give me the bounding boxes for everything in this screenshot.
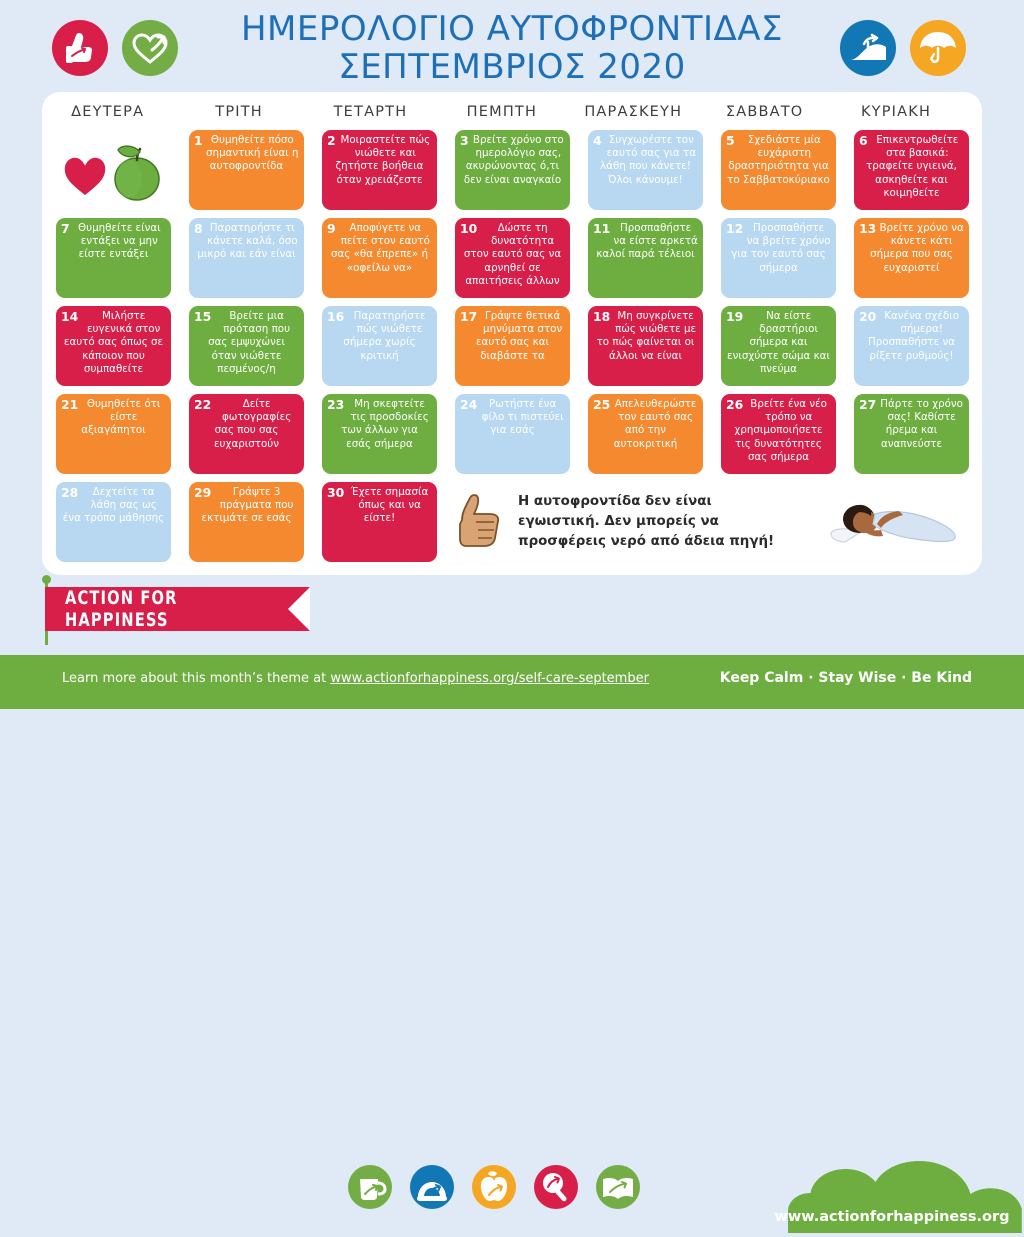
calendar-day-16[interactable]: 16Παρατηρήστε πώς νιώθετε σήμερα χωρίς κ… (322, 306, 437, 386)
day-number: 4 (593, 134, 602, 148)
day-number: 10 (460, 222, 477, 236)
magnifier-icon (534, 1165, 578, 1209)
calendar-day-4[interactable]: 4Συγχωρέστε τον εαυτό σας για τα λάθη πο… (588, 130, 703, 210)
calendar-day-23[interactable]: 23Μη σκεφτείτε τις προσδοκίες των άλλων … (322, 394, 437, 474)
day-number: 22 (194, 398, 211, 412)
calendar-day-2[interactable]: 2Μοιραστείτε πώς νιώθετε και ζητήστε βοή… (322, 130, 437, 210)
day-number: 18 (593, 310, 610, 324)
day-number: 21 (61, 398, 78, 412)
day-text: Αποφύγετε να πείτε στον εαυτό σας «θα έπ… (327, 222, 432, 275)
heart-arrow-icon (122, 20, 178, 76)
calendar-day-27[interactable]: 27Πάρτε το χρόνο σας! Καθίστε ήρεμα και … (854, 394, 969, 474)
self-care-calendar-poster: ΗΜΕΡΟΛΟΓΙΟ ΑΥΤΟΦΡΟΝΤΙΔΑΣ ΣΕΠΤΕΜΒΡΙΟΣ 202… (0, 0, 1024, 709)
day-text: Συγχωρέστε τον εαυτό σας για τα λάθη που… (593, 134, 698, 187)
day-number: 6 (859, 134, 868, 148)
weekday-header-3: ΠΕΜΠΤΗ (436, 104, 567, 132)
day-number: 24 (460, 398, 477, 412)
day-number: 11 (593, 222, 610, 236)
quote-text: Η αυτοφροντίδα δεν είναι εγωιστική. Δεν … (518, 492, 818, 552)
calendar-day-30[interactable]: 30Έχετε σημασία όπως και να είστε! (322, 482, 437, 562)
calendar-day-15[interactable]: 15Βρείτε μια πρόταση που σας εμψυχώνει ό… (189, 306, 304, 386)
calendar-day-19[interactable]: 19Να είστε δραστήριοι σήμερα και ενισχύσ… (721, 306, 836, 386)
day-number: 15 (194, 310, 211, 324)
action-for-happiness-logo[interactable]: ACTION FOR HAPPINESS (45, 587, 310, 631)
day-number: 27 (859, 398, 876, 412)
thumbs-up-illustration (440, 486, 512, 562)
day-number: 9 (327, 222, 336, 236)
calendar-day-25[interactable]: 25Απελευθερώστε τον εαυτό σας από την αυ… (588, 394, 703, 474)
quote-line-2: εγωιστική. Δεν μπορείς να (518, 514, 719, 529)
telephone-icon (410, 1165, 454, 1209)
calendar-day-12[interactable]: 12Προσπαθήστε να βρείτε χρόνο για τον εα… (721, 218, 836, 298)
calendar-day-26[interactable]: 26Βρείτε ένα νέο τρόπο να χρησιμοποιήσετ… (721, 394, 836, 474)
weekday-header-6: ΚΥΡΙΑΚΗ (830, 104, 961, 132)
calendar-day-7[interactable]: 7Θυμηθείτε είναι εντάξει να μην είστε εν… (56, 218, 171, 298)
day-number: 26 (726, 398, 743, 412)
hill-walk-icon (840, 20, 896, 76)
calendar-day-13[interactable]: 13Βρείτε χρόνο να κάνετε κάτι σήμερα που… (854, 218, 969, 298)
branding-band: ACTION FOR HAPPINESS (0, 575, 1024, 655)
day-number: 29 (194, 486, 211, 500)
day-number: 3 (460, 134, 469, 148)
day-number: 1 (194, 134, 203, 148)
learn-more-prefix: Learn more about this month’s theme at (62, 671, 330, 686)
day-number: 28 (61, 486, 78, 500)
day-number: 25 (593, 398, 610, 412)
day-text: Θυμηθείτε είναι εντάξει να μην είστε εντ… (61, 222, 166, 262)
page-title: ΗΜΕΡΟΛΟΓΙΟ ΑΥΤΟΦΡΟΝΤΙΔΑΣ ΣΕΠΤΕΜΒΡΙΟΣ 202… (200, 10, 824, 86)
tagline: Keep Calm · Stay Wise · Be Kind (720, 670, 972, 686)
apple-icon (472, 1165, 516, 1209)
weekday-header-row: ΔΕΥΤΕΡΑΤΡΙΤΗΤΕΤΑΡΤΗΠΕΜΠΤΗΠΑΡΑΣΚΕΥΗΣΑΒΒΑΤ… (42, 104, 982, 132)
weekday-header-4: ΠΑΡΑΣΚΕΥΗ (568, 104, 699, 132)
day-number: 12 (726, 222, 743, 236)
calendar-day-10[interactable]: 10Δώστε τη δυνατότητα στον εαυτό σας να … (455, 218, 570, 298)
calendar-day-24[interactable]: 24Ρωτήστε ένα φίλο τι πιστεύει για εσάς (455, 394, 570, 474)
day-number: 7 (61, 222, 70, 236)
calendar-day-29[interactable]: 29Γράψτε 3 πράγματα που εκτιμάτε σε εσάς (189, 482, 304, 562)
calendar-day-14[interactable]: 14Μιλήστε ευγενικά στον εαυτό σας όπως σ… (56, 306, 171, 386)
poster-header: ΗΜΕΡΟΛΟΓΙΟ ΑΥΤΟΦΡΟΝΤΙΔΑΣ ΣΕΠΤΕΜΒΡΙΟΣ 202… (0, 0, 1024, 92)
weekday-header-5: ΣΑΒΒΑΤΟ (699, 104, 830, 132)
day-text: Επικεντρωθείτε στα βασικά: τραφείτε υγιε… (859, 134, 964, 200)
calendar-day-28[interactable]: 28Δεχτείτε τα λάθη σας ως ένα τρόπο μάθη… (56, 482, 171, 562)
title-line-1: ΗΜΕΡΟΛΟΓΙΟ ΑΥΤΟΦΡΟΝΤΙΔΑΣ (241, 9, 783, 49)
mug-icon (348, 1165, 392, 1209)
weekday-header-0: ΔΕΥΤΕΡΑ (42, 104, 173, 132)
weekday-header-2: ΤΕΤΑΡΤΗ (305, 104, 436, 132)
day-number: 13 (859, 222, 876, 236)
calendar-day-5[interactable]: 5Σχεδιάστε μία ευχάριστη δραστηριότητα γ… (721, 130, 836, 210)
day-number: 20 (859, 310, 876, 324)
day-number: 30 (327, 486, 344, 500)
day-number: 19 (726, 310, 743, 324)
calendar-day-8[interactable]: 8Παρατηρήστε τι κάνετε καλά, όσο μικρό κ… (189, 218, 304, 298)
day-text: Παρατηρήστε τι κάνετε καλά, όσο μικρό κα… (194, 222, 299, 262)
quote-line-3: προσφέρεις νερό από άδεια πηγή! (518, 534, 774, 549)
day-number: 8 (194, 222, 203, 236)
heart-apple-illustration (56, 130, 171, 210)
title-line-2: ΣΕΠΤΕΜΒΡΙΟΣ 2020 (200, 48, 824, 86)
day-number: 23 (327, 398, 344, 412)
quote-section: Η αυτοφροντίδα δεν είναι εγωιστική. Δεν … (430, 478, 975, 573)
day-text: Μοιραστείτε πώς νιώθετε και ζητήστε βοήθ… (327, 134, 432, 187)
day-number: 2 (327, 134, 336, 148)
website-url[interactable]: www.actionforhappiness.org (760, 1209, 1024, 1225)
ribbon-label: ACTION FOR HAPPINESS (65, 587, 276, 631)
calendar-day-22[interactable]: 22Δείτε φωτογραφίες σας που σας ευχαριστ… (189, 394, 304, 474)
day-number: 17 (460, 310, 477, 324)
learn-more-link[interactable]: www.actionforhappiness.org/self-care-sep… (330, 671, 649, 686)
book-icon (596, 1165, 640, 1209)
calendar-day-3[interactable]: 3Βρείτε χρόνο στο ημερολόγιο σας, ακυρών… (455, 130, 570, 210)
calendar-day-9[interactable]: 9Αποφύγετε να πείτε στον εαυτό σας «θα έ… (322, 218, 437, 298)
day-number: 16 (327, 310, 344, 324)
calendar-day-20[interactable]: 20Κανένα σχέδιο σήμερα! Προσπαθήστε να ρ… (854, 306, 969, 386)
learn-more-text: Learn more about this month’s theme at w… (62, 671, 649, 686)
day-number: 14 (61, 310, 78, 324)
calendar-day-6[interactable]: 6Επικεντρωθείτε στα βασικά: τραφείτε υγι… (854, 130, 969, 210)
umbrella-icon (910, 20, 966, 76)
calendar-day-1[interactable]: 1Θυμηθείτε πόσο σημαντική είναι η αυτοφρ… (189, 130, 304, 210)
quote-line-1: Η αυτοφροντίδα δεν είναι (518, 494, 712, 509)
calendar-day-21[interactable]: 21Θυμηθείτε ότι είστε αξιαγάπητοι (56, 394, 171, 474)
calendar-day-18[interactable]: 18Μη συγκρίνετε πώς νιώθετε με το πώς φα… (588, 306, 703, 386)
day-text: Βρείτε χρόνο στο ημερολόγιο σας, ακυρώνο… (460, 134, 565, 187)
footer-bar: Learn more about this month’s theme at w… (0, 655, 1024, 709)
day-text: Θυμηθείτε πόσο σημαντική είναι η αυτοφρο… (194, 134, 299, 174)
day-number: 5 (726, 134, 735, 148)
sleeping-person-illustration (815, 484, 965, 560)
weekday-header-1: ΤΡΙΤΗ (173, 104, 304, 132)
thumbs-up-icon (52, 20, 108, 76)
day-text: Σχεδιάστε μία ευχάριστη δραστηριότητα γι… (726, 134, 831, 187)
calendar-day-17[interactable]: 17Γράψτε θετικά μηνύματα στον εαυτό σας … (455, 306, 570, 386)
calendar-day-11[interactable]: 11Προσπαθήστε να είστε αρκετά καλοί παρά… (588, 218, 703, 298)
ribbon-notch (288, 587, 310, 631)
